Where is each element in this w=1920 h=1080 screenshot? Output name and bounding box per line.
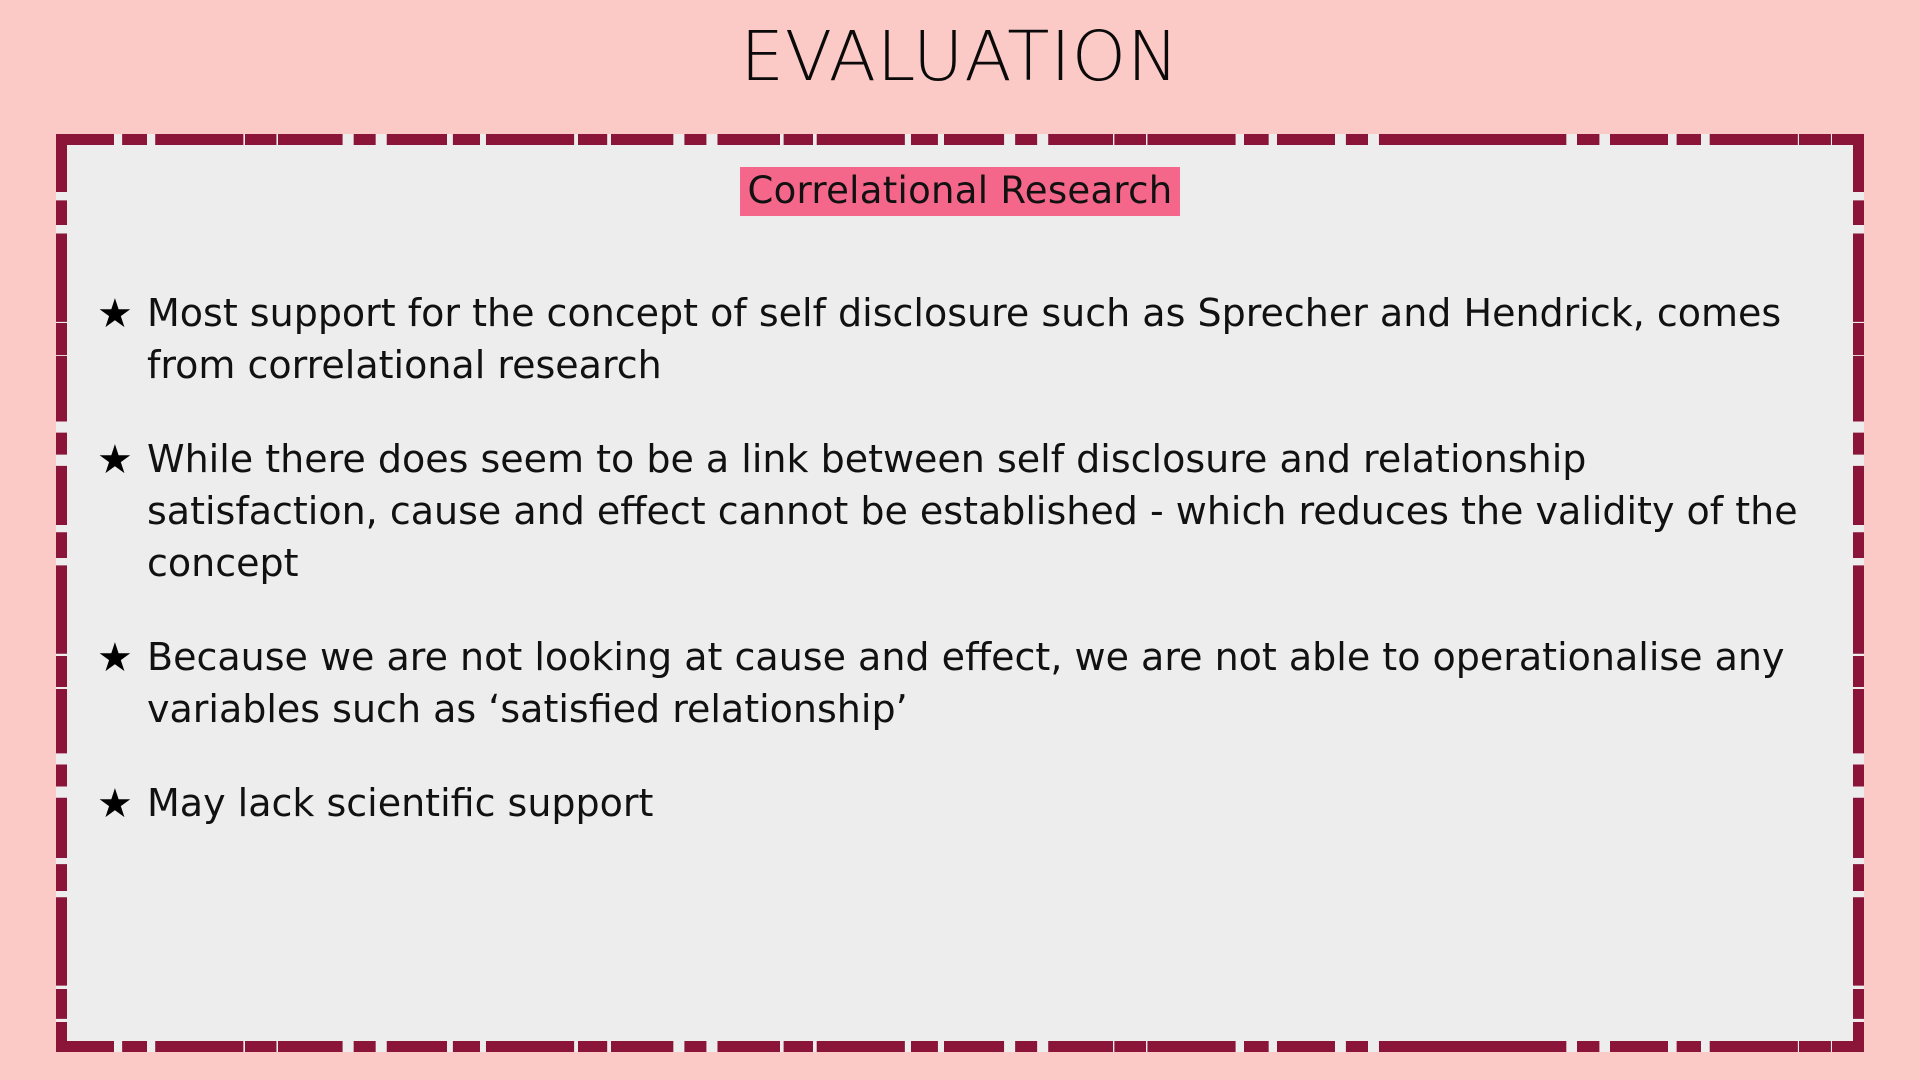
content-panel: Correlational Research ★ Most support fo…	[56, 134, 1864, 1052]
list-item: ★ Because we are not looking at cause an…	[83, 631, 1835, 735]
section-subtitle: Correlational Research	[740, 167, 1179, 216]
bullet-list: ★ Most support for the concept of self d…	[83, 287, 1835, 831]
list-item-text: May lack scientific support	[147, 777, 1835, 829]
panel-border-left	[56, 134, 67, 1052]
star-icon: ★	[83, 777, 147, 831]
list-item: ★ May lack scientific support	[83, 777, 1835, 831]
panel-border-right	[1853, 134, 1864, 1052]
slide: EVALUATION Correlational Research ★ Most…	[0, 0, 1920, 1080]
star-icon: ★	[83, 433, 147, 487]
list-item-text: Most support for the concept of self dis…	[147, 287, 1835, 391]
star-icon: ★	[83, 287, 147, 341]
star-icon: ★	[83, 631, 147, 685]
list-item: ★ While there does seem to be a link bet…	[83, 433, 1835, 589]
list-item: ★ Most support for the concept of self d…	[83, 287, 1835, 391]
panel-border-top	[56, 134, 1864, 145]
list-item-text: While there does seem to be a link betwe…	[147, 433, 1835, 589]
panel-inner: Correlational Research ★ Most support fo…	[67, 145, 1853, 1041]
list-item-text: Because we are not looking at cause and …	[147, 631, 1835, 735]
subtitle-row: Correlational Research	[67, 167, 1853, 216]
page-title: EVALUATION	[0, 20, 1920, 96]
panel-border-bottom	[56, 1041, 1864, 1052]
